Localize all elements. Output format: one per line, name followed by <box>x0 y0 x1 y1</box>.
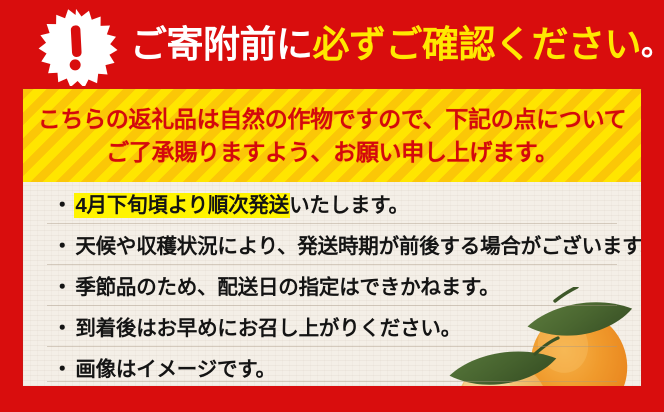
list-item: ・到着後はお早めにお召し上がりください。 <box>23 309 641 349</box>
title-yellow-emphasis: 必ずご確認ください <box>313 26 642 63</box>
list-bullet: ・ <box>52 276 72 299</box>
notice-panel: こちらの返礼品は自然の作物ですので、下記の点について ご了承賜りますよう、お願い… <box>23 89 641 386</box>
title-white-prefix: ご寄附前に <box>130 26 313 63</box>
list-item: ・4月下旬頃より順次発送いたします。 <box>23 186 641 226</box>
title-period: 。 <box>641 29 664 60</box>
list-separator <box>47 381 617 382</box>
list-item-plain: 画像はイメージです。 <box>75 358 276 381</box>
notice-band: こちらの返礼品は自然の作物ですので、下記の点について ご了承賜りますよう、お願い… <box>23 89 641 182</box>
list-item-text: ・天候や収穫状況により、発送時期が前後する場合がございます。 <box>52 237 641 258</box>
list-separator <box>47 223 617 224</box>
list-item-plain: 季節品のため、配送日の指定はできかねます。 <box>75 276 499 299</box>
notice-list: ・4月下旬頃より順次発送いたします。 ・天候や収穫状況により、発送時期が前後する… <box>23 182 641 386</box>
banner-header: ご寄附前に 必ずご確認ください 。 <box>0 0 664 89</box>
bottom-red-strip <box>0 386 664 412</box>
exclamation-starburst-icon <box>34 8 118 86</box>
list-item-plain: 天候や収穫状況により、発送時期が前後する場合がございます。 <box>75 235 641 258</box>
list-separator <box>47 346 617 347</box>
list-item-plain: いたします。 <box>289 194 409 217</box>
list-bullet: ・ <box>52 358 72 381</box>
list-bullet: ・ <box>52 317 72 340</box>
list-item: ・季節品のため、配送日の指定はできかねます。 <box>23 268 641 308</box>
attention-notice-banner: ご寄附前に 必ずご確認ください 。 こちらの返礼品は自然の作物ですので、下記の点… <box>0 0 664 412</box>
list-item: ・天候や収穫状況により、発送時期が前後する場合がございます。 <box>23 227 641 267</box>
list-item-highlight: 4月下旬頃より順次発送 <box>75 194 289 217</box>
list-item-plain: 到着後はお早めにお召し上がりください。 <box>75 317 461 340</box>
list-item-text: ・4月下旬頃より順次発送いたします。 <box>52 196 409 217</box>
list-item-text: ・季節品のため、配送日の指定はできかねます。 <box>52 278 500 299</box>
list-item-text: ・画像はイメージです。 <box>52 360 276 381</box>
notice-band-line-2: ご了承賜りますよう、お願い申し上げます。 <box>106 136 558 169</box>
list-bullet: ・ <box>52 194 72 217</box>
list-separator <box>47 264 617 265</box>
list-separator <box>47 305 617 306</box>
list-item-text: ・到着後はお早めにお召し上がりください。 <box>52 319 461 340</box>
notice-band-line-1: こちらの返礼品は自然の作物ですので、下記の点について <box>38 103 627 136</box>
page-title: ご寄附前に 必ずご確認ください 。 <box>130 0 664 89</box>
list-bullet: ・ <box>52 235 72 258</box>
